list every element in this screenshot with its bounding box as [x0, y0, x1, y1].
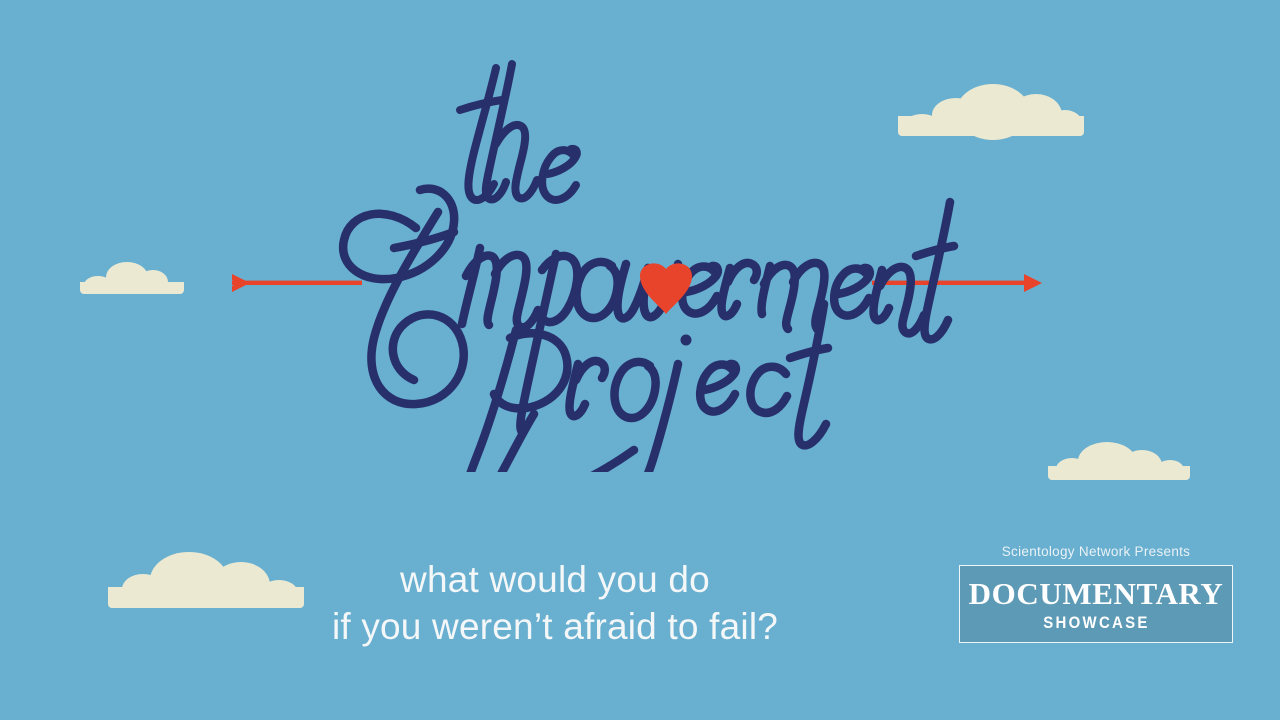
cloud-puff	[84, 276, 112, 294]
badge-subtitle: SHOWCASE	[1043, 614, 1149, 631]
cloud-puff	[1056, 458, 1088, 480]
cloud-puff	[1156, 460, 1184, 480]
title-card: what would you do if you weren’t afraid …	[0, 0, 1280, 720]
cloud-mid-right	[1048, 442, 1190, 480]
cloud-puff	[1048, 110, 1082, 136]
logo-word-empowerment	[343, 189, 954, 432]
presenter-label: Scientology Network Presents	[950, 544, 1242, 559]
cloud-puff	[1122, 450, 1162, 480]
documentary-showcase-badge[interactable]: Scientology Network Presents DOCUMENTARY…	[950, 544, 1242, 643]
logo-script-lettering	[320, 52, 1020, 472]
cloud-mid-left	[80, 262, 184, 294]
badge-title: DOCUMENTARY	[969, 578, 1224, 609]
logo-word-the	[460, 64, 577, 200]
badge-box[interactable]: DOCUMENTARY SHOWCASE	[959, 565, 1233, 643]
cloud-puff	[138, 270, 168, 294]
